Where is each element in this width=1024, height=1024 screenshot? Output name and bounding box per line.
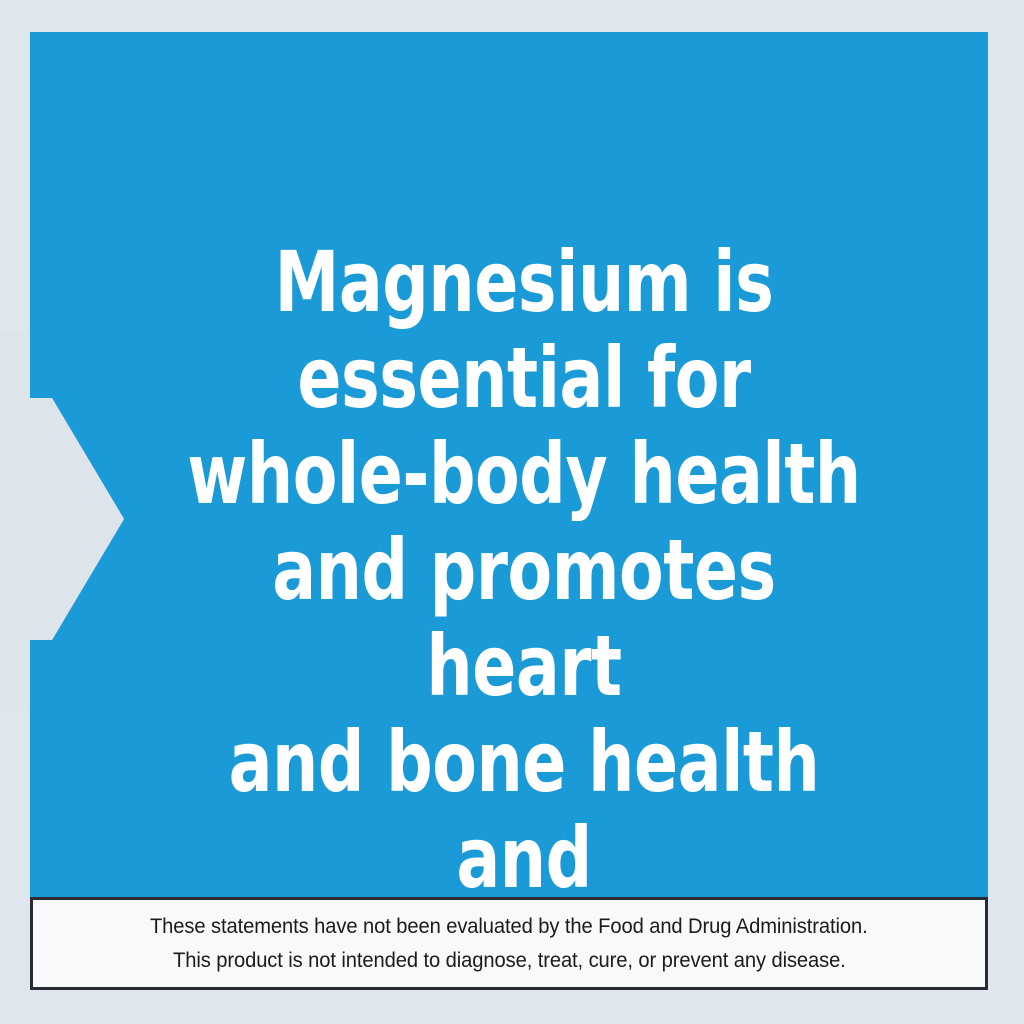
disclaimer-line-2: This product is not intended to diagnose… <box>173 944 846 978</box>
fda-disclaimer-box: These statements have not been evaluated… <box>30 897 988 990</box>
promo-card-canvas: Magnesium is essential for whole-body he… <box>0 0 1024 1024</box>
disclaimer-line-1: These statements have not been evaluated… <box>150 910 868 944</box>
page-title: Magnesium is essential for whole-body he… <box>168 234 880 1002</box>
